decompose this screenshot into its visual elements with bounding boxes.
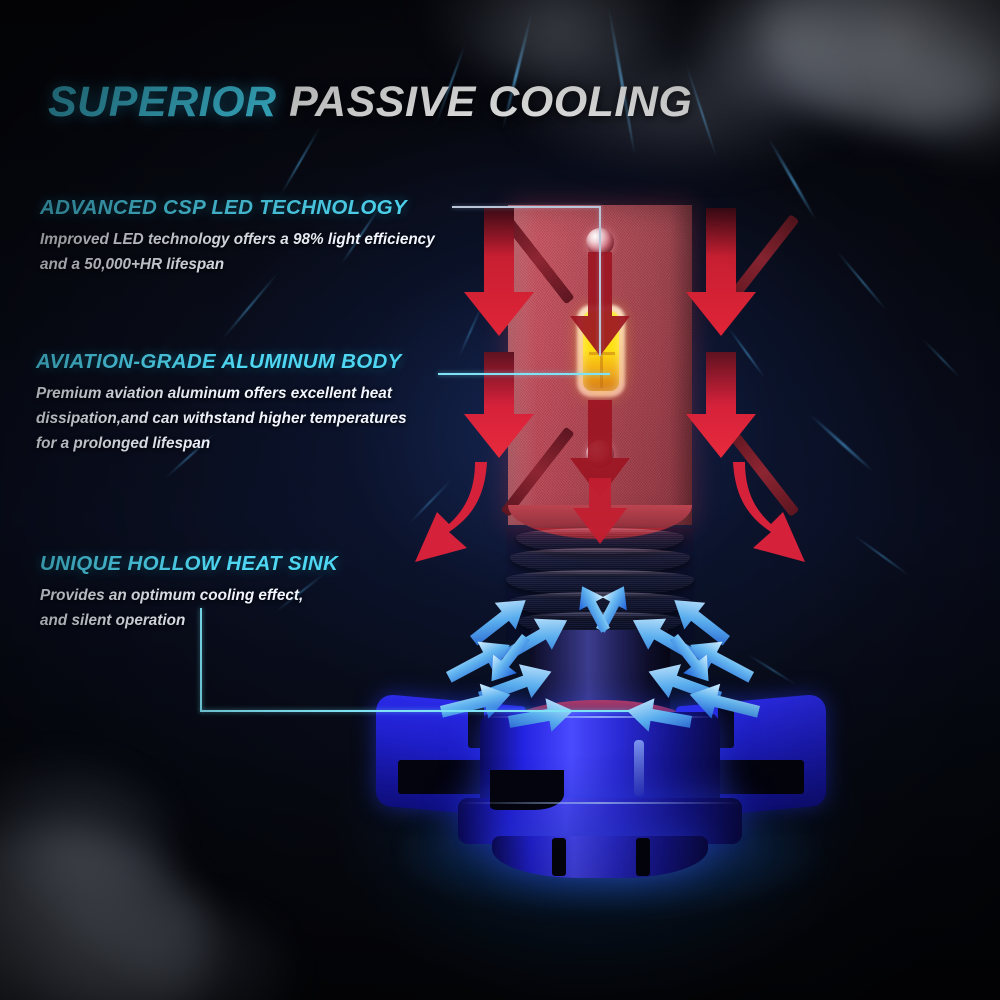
infographic-canvas: SUPERIOR PASSIVE COOLING ADVANCED CSP LE… bbox=[0, 0, 1000, 1000]
vignette-overlay bbox=[0, 0, 1000, 1000]
